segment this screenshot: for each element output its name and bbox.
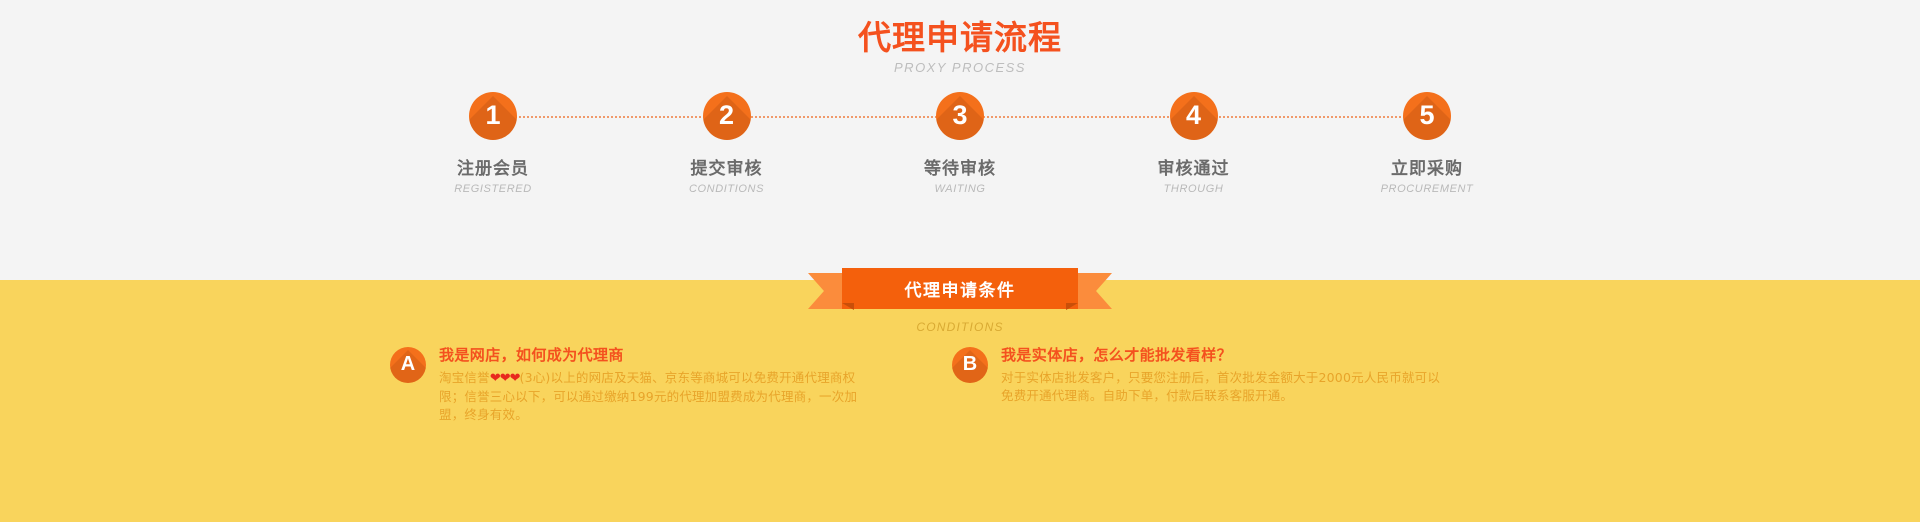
process-step-2[interactable]: 2 提交审核 CONDITIONS xyxy=(664,92,790,196)
step-number-4: 4 xyxy=(1170,92,1218,140)
step-label-en-1: REGISTERED xyxy=(430,182,556,196)
step-number-1: 1 xyxy=(469,92,517,140)
step-number-3: 3 xyxy=(936,92,984,140)
conditions-ribbon: 代理申请条件 xyxy=(842,268,1078,314)
faq-item-a: A 我是网店，如何成为代理商 淘宝信誉❤❤❤(3心)以上的网店及天猫、京东等商城… xyxy=(390,343,890,424)
step-label-en-2: CONDITIONS xyxy=(664,182,790,196)
conditions-section: 代理申请条件 CONDITIONS A 我是网店，如何成为代理商 淘宝信誉❤❤❤… xyxy=(0,280,1920,522)
faq-body-a-part1: 淘宝信誉 xyxy=(439,370,490,385)
ribbon-body: 代理申请条件 xyxy=(842,268,1078,309)
faq-body-b: 对于实体店批发客户，只要您注册后，首次批发金额大于2000元人民币就可以免费开通… xyxy=(1001,369,1441,405)
faq-title-a: 我是网店，如何成为代理商 xyxy=(439,344,879,366)
faq-badge-a: A xyxy=(390,347,426,383)
step-label-cn-3: 等待审核 xyxy=(897,158,1023,180)
page-subtitle: PROXY PROCESS xyxy=(0,60,1920,76)
ribbon-fold-shadow-right xyxy=(1066,303,1078,310)
process-step-4[interactable]: 4 审核通过 THROUGH xyxy=(1131,92,1257,196)
step-label-cn-5: 立即采购 xyxy=(1364,158,1490,180)
step-circle-3: 3 xyxy=(936,92,984,140)
ribbon-title: 代理申请条件 xyxy=(905,276,1016,301)
step-label-en-3: WAITING xyxy=(897,182,1023,196)
step-circle-4: 4 xyxy=(1170,92,1218,140)
step-label-cn-2: 提交审核 xyxy=(664,158,790,180)
step-label-en-5: PROCUREMENT xyxy=(1364,182,1490,196)
step-number-2: 2 xyxy=(703,92,751,140)
faq-item-b: B 我是实体店，怎么才能批发看样？ 对于实体店批发客户，只要您注册后，首次批发金… xyxy=(952,343,1452,424)
faq-badge-letter-a: A xyxy=(390,347,426,383)
page-root: 代理申请流程 PROXY PROCESS 1 注册会员 REGISTERED 2… xyxy=(0,0,1920,522)
ribbon-tail-left xyxy=(808,273,846,309)
step-number-5: 5 xyxy=(1403,92,1451,140)
process-step-3[interactable]: 3 等待审核 WAITING xyxy=(897,92,1023,196)
step-circle-1: 1 xyxy=(469,92,517,140)
page-title: 代理申请流程 xyxy=(0,18,1920,58)
process-section: 代理申请流程 PROXY PROCESS 1 注册会员 REGISTERED 2… xyxy=(0,0,1920,280)
page-title-block: 代理申请流程 PROXY PROCESS xyxy=(0,18,1920,76)
step-label-cn-1: 注册会员 xyxy=(430,158,556,180)
ribbon-fold-shadow-left xyxy=(842,303,854,310)
step-label-en-4: THROUGH xyxy=(1131,182,1257,196)
step-label-cn-4: 审核通过 xyxy=(1131,158,1257,180)
process-steps: 1 注册会员 REGISTERED 2 提交审核 CONDITIONS 3 xyxy=(430,92,1490,192)
faq-title-b: 我是实体店，怎么才能批发看样？ xyxy=(1001,344,1441,366)
conditions-faq-list: A 我是网店，如何成为代理商 淘宝信誉❤❤❤(3心)以上的网店及天猫、京东等商城… xyxy=(390,343,1550,424)
process-step-1[interactable]: 1 注册会员 REGISTERED xyxy=(430,92,556,196)
ribbon-subtitle: CONDITIONS xyxy=(760,320,1160,334)
faq-badge-b: B xyxy=(952,347,988,383)
faq-badge-letter-b: B xyxy=(952,347,988,383)
step-circle-5: 5 xyxy=(1403,92,1451,140)
heart-icon-group: ❤❤❤ xyxy=(490,371,520,386)
faq-body-a: 淘宝信誉❤❤❤(3心)以上的网店及天猫、京东等商城可以免费开通代理商权限；信誉三… xyxy=(439,369,879,424)
process-step-5[interactable]: 5 立即采购 PROCUREMENT xyxy=(1364,92,1490,196)
ribbon-tail-right xyxy=(1074,273,1112,309)
step-circle-2: 2 xyxy=(703,92,751,140)
